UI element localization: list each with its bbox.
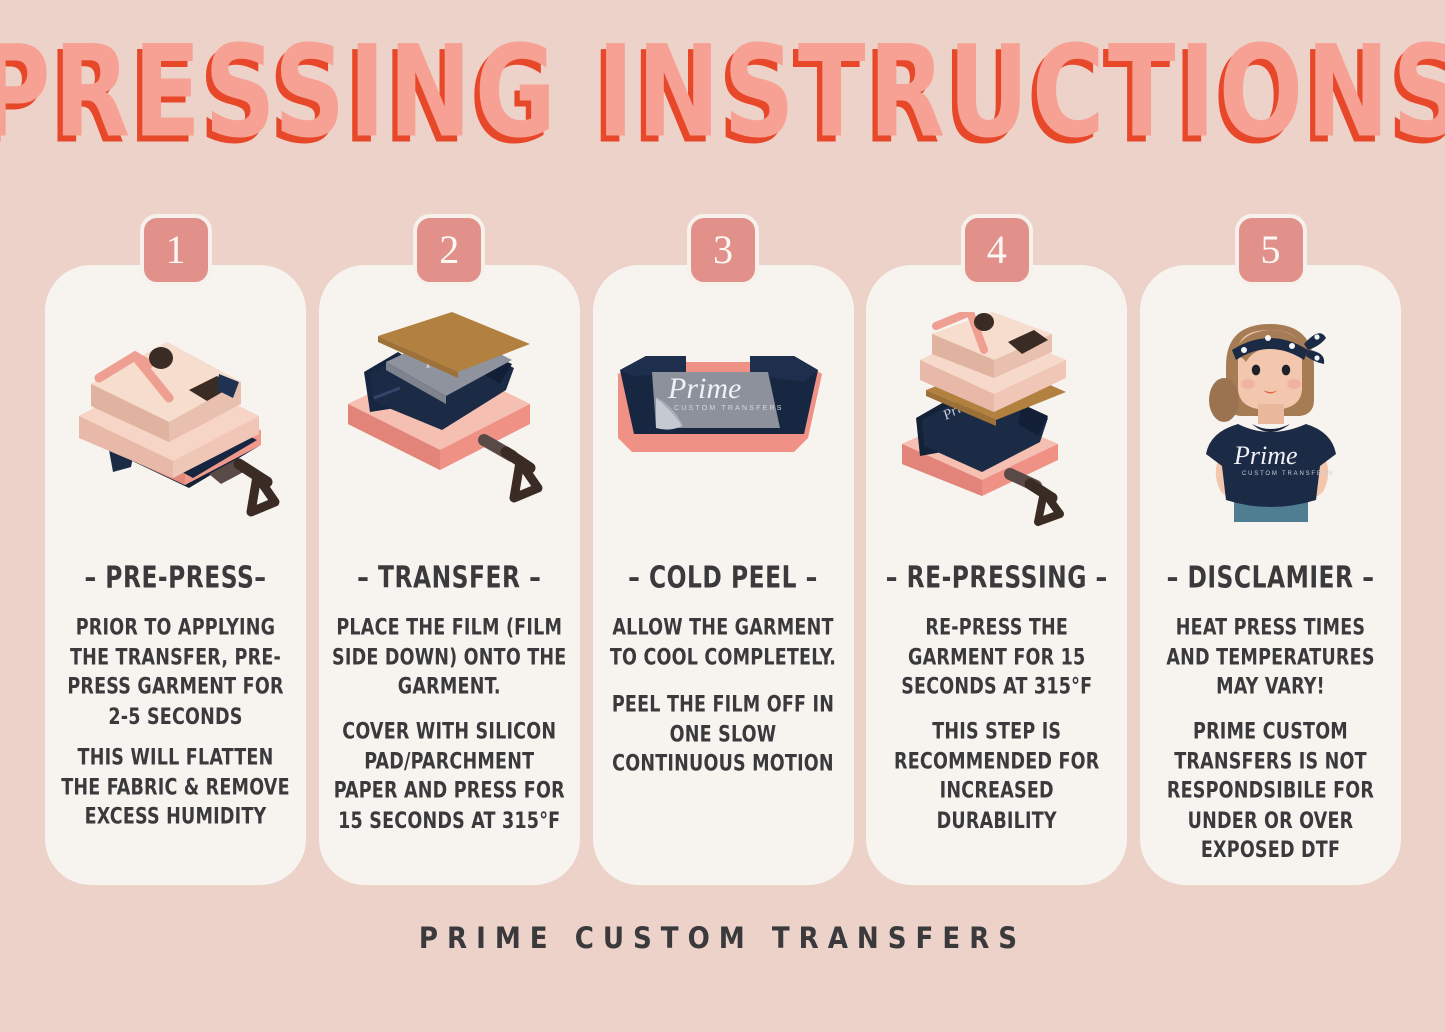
step-title-4: – RE-PRESSING – [866,561,1127,596]
step-paragraph: PRIME CUSTOM TRANSFERS IS NOT RESPONDSIB… [1151,717,1390,865]
step-paragraph: PLACE THE FILM (FILM SIDE DOWN) ONTO THE… [330,613,569,702]
peeling-film-shirt-icon: Prime CUSTOM TRANSFERS [608,312,838,527]
step-paragraph: ALLOW THE GARMENT TO COOL COMPLETELY. [604,613,843,672]
step-body-3: ALLOW THE GARMENT TO COOL COMPLETELY. PE… [604,613,843,770]
step-badge-3: 3 [687,214,759,286]
step-illustration-1 [45,299,306,539]
svg-text:Prime: Prime [1233,441,1298,470]
page-title: PRESSING INSTRUCTIONS [0,28,1445,155]
step-paragraph: HEAT PRESS TIMES AND TEMPERATURES MAY VA… [1151,613,1390,702]
step-title-5: – DISCLAMIER – [1140,561,1401,596]
page-title-container: PRESSING INSTRUCTIONS [0,28,1445,132]
step-paragraph: RE-PRESS THE GARMENT FOR 15 SECONDS AT 3… [877,613,1116,702]
svg-text:CUSTOM TRANSFERS: CUSTOM TRANSFERS [674,405,784,412]
heat-press-layers-icon: Prime [882,312,1112,527]
step-badge-1: 1 [140,214,212,286]
step-badge-4: 4 [961,214,1033,286]
step-card-3: 3 Prime CUSTOM TRANSFERS [593,265,854,885]
step-body-1: PRIOR TO APPLYING THE TRANSFER, PRE-PRES… [56,613,295,823]
woman-wearing-shirt-icon: Prime CUSTOM TRANSFERS [1168,304,1373,534]
brand-footer: PRIME CUSTOM TRANSFERS [0,921,1445,955]
step-title-1: – PRE-PRESS– [45,561,306,596]
step-card-5: 5 [1140,265,1401,885]
step-title-3: – COLD PEEL – [593,561,854,596]
step-card-2: 2 [319,265,580,885]
step-illustration-2: Prime [319,299,580,539]
step-paragraph: THIS WILL FLATTEN THE FABRIC & REMOVE EX… [56,743,295,832]
svg-text:Prime: Prime [667,372,741,405]
step-body-5: HEAT PRESS TIMES AND TEMPERATURES MAY VA… [1151,613,1390,849]
step-paragraph: COVER WITH SILICON PAD/PARCHMENT PAPER A… [330,717,569,836]
step-title-2: – TRANSFER – [319,561,580,596]
step-card-1: 1 [45,265,306,885]
step-paragraph: PRIOR TO APPLYING THE TRANSFER, PRE-PRES… [56,613,295,732]
step-paragraph: THIS STEP IS RECOMMENDED FOR INCREASED D… [877,717,1116,836]
infographic-page: PRESSING INSTRUCTIONS 1 [0,0,1445,1032]
step-body-2: PLACE THE FILM (FILM SIDE DOWN) ONTO THE… [330,613,569,823]
film-and-parchment-layers-icon: Prime [334,312,564,527]
step-illustration-5: Prime CUSTOM TRANSFERS [1140,299,1401,539]
step-paragraph: PEEL THE FILM OFF IN ONE SLOW CONTINUOUS… [604,690,843,779]
step-illustration-3: Prime CUSTOM TRANSFERS [593,299,854,539]
heat-press-closed-icon [61,312,291,527]
steps-container: 1 [45,265,1401,885]
step-illustration-4: Prime [866,299,1127,539]
step-badge-5: 5 [1235,214,1307,286]
step-card-4: 4 Prime [866,265,1127,885]
step-body-4: RE-PRESS THE GARMENT FOR 15 SECONDS AT 3… [877,613,1116,823]
svg-text:CUSTOM TRANSFERS: CUSTOM TRANSFERS [1242,471,1335,477]
step-badge-2: 2 [413,214,485,286]
